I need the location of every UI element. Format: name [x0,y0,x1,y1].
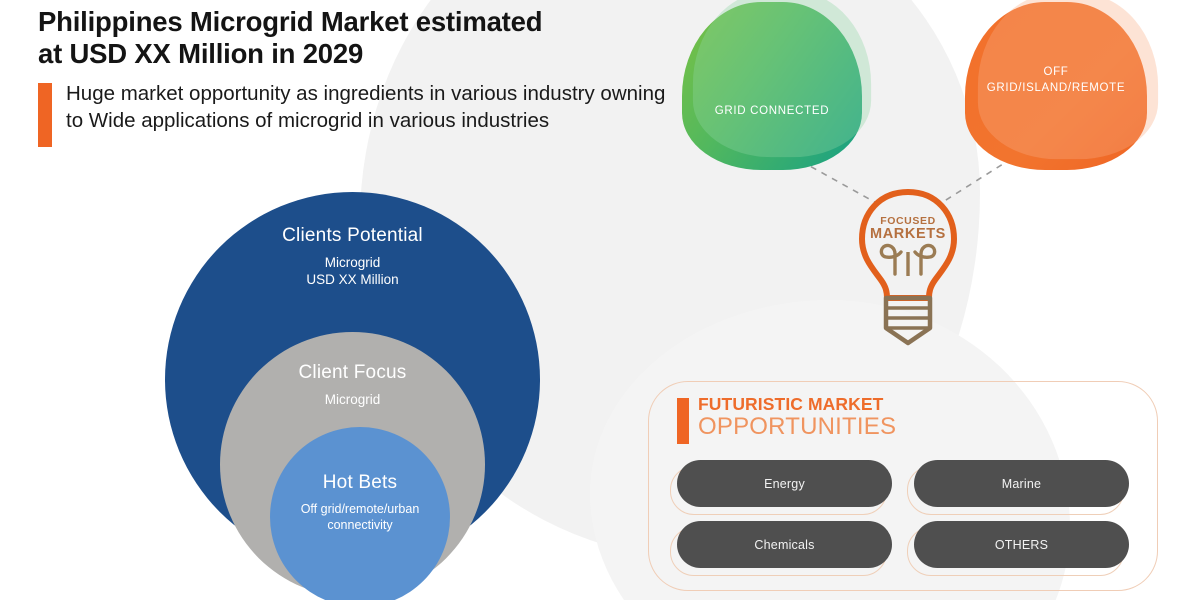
segment-green-label: GRID CONNECTED [703,104,842,120]
bulb-glass-outline [862,192,954,298]
segment-grid-connected: GRID CONNECTED [682,2,862,170]
opportunity-pill-others[interactable]: OTHERS [914,521,1129,568]
segment-orange-label-line-2: GRID/ISLAND/REMOTE [987,82,1125,94]
bulb-base-outline [886,298,930,343]
accent-bar-icon [38,83,52,147]
infographic-canvas: Philippines Microgrid Market estimated a… [0,0,1200,600]
page-title-line-1: Philippines Microgrid Market estimated [38,6,698,38]
circle-inner-sub-line-2: connectivity [280,517,440,533]
panel-heading: FUTURISTIC MARKET OPPORTUNITIES [677,396,896,444]
bulb-filament-left [881,245,901,274]
segment-off-grid: OFF GRID/ISLAND/REMOTE [965,2,1147,170]
segment-green-ghost-shape [693,0,871,157]
focused-markets-bulb: FOCUSED MARKETS [848,186,968,356]
panel-heading-line-1: FUTURISTIC MARKET [698,396,896,414]
bulb-filament-right [915,245,935,274]
page-title-line-2: at USD XX Million in 2029 [38,38,698,70]
circle-inner-labels: Hot Bets Off grid/remote/urban connectiv… [270,472,450,533]
opportunity-pill-energy[interactable]: Energy [677,460,892,507]
segment-orange-label-line-1: OFF [1043,66,1068,78]
bulb-label-line-2: MARKETS [848,227,968,242]
segment-orange-label: OFF GRID/ISLAND/REMOTE [975,65,1137,96]
pill-label-chemicals[interactable]: Chemicals [677,521,892,568]
circle-middle-sub-line-1: Microgrid [220,391,485,408]
pill-label-energy[interactable]: Energy [677,460,892,507]
circle-outer-title: Clients Potential [165,225,540,247]
circle-inner-sub: Off grid/remote/urban connectivity [270,501,450,533]
opportunity-pill-marine[interactable]: Marine [914,460,1129,507]
panel-heading-line-2: OPPORTUNITIES [698,414,896,439]
circle-hot-bets: Hot Bets Off grid/remote/urban connectiv… [270,427,450,600]
bulb-label: FOCUSED MARKETS [848,216,968,242]
panel-accent-bar-icon [677,398,689,444]
pill-label-others[interactable]: OTHERS [914,521,1129,568]
circle-middle-title: Client Focus [220,362,485,384]
circle-outer-sub: Microgrid USD XX Million [165,254,540,289]
futuristic-opportunities-panel: FUTURISTIC MARKET OPPORTUNITIES Energy M… [648,381,1158,591]
circle-inner-title: Hot Bets [270,472,450,494]
subtitle-block: Huge market opportunity as ingredients i… [38,80,678,147]
circle-outer-labels: Clients Potential Microgrid USD XX Milli… [165,225,540,289]
clients-potential-diagram: Clients Potential Microgrid USD XX Milli… [165,192,540,600]
circle-outer-sub-line-1: Microgrid [165,254,540,271]
circle-inner-sub-line-1: Off grid/remote/urban [280,501,440,517]
pill-label-marine[interactable]: Marine [914,460,1129,507]
page-subtitle: Huge market opportunity as ingredients i… [66,80,666,147]
circle-outer-sub-line-2: USD XX Million [165,271,540,288]
page-title: Philippines Microgrid Market estimated a… [38,6,698,70]
opportunity-pill-chemicals[interactable]: Chemicals [677,521,892,568]
opportunity-pill-grid: Energy Marine Chemicals OTHERS [677,460,1129,568]
circle-middle-labels: Client Focus Microgrid [220,362,485,408]
panel-heading-text: FUTURISTIC MARKET OPPORTUNITIES [698,396,896,444]
lightbulb-icon [848,186,968,356]
